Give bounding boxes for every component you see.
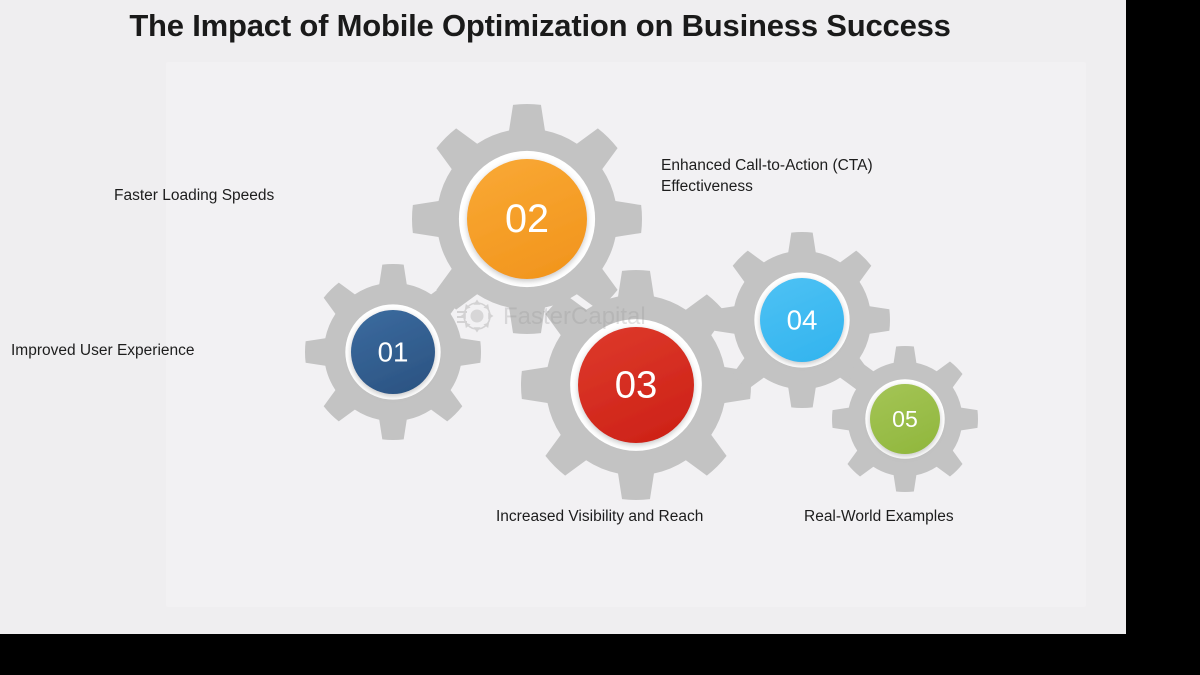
slide-canvas: The Impact of Mobile Optimization on Bus… <box>0 0 1126 634</box>
gear-03[interactable]: 03 <box>521 270 751 500</box>
gear-diagram: 0201030405 <box>0 0 1126 634</box>
gear-05[interactable]: 05 <box>832 346 978 492</box>
step-label-05: Real-World Examples <box>804 507 954 528</box>
slide-root: The Impact of Mobile Optimization on Bus… <box>0 0 1200 675</box>
step-label-02: Faster Loading Speeds <box>114 186 274 207</box>
gear-number-04: 04 <box>787 305 818 336</box>
gear-01[interactable]: 01 <box>305 264 481 440</box>
gear-number-03: 03 <box>615 364 658 407</box>
gear-diagram-svg: 0201030405 <box>0 0 1126 634</box>
step-label-03: Increased Visibility and Reach <box>496 507 703 528</box>
step-label-01: Improved User Experience <box>11 341 195 362</box>
step-label-04: Enhanced Call-to-Action (CTA) Effectiven… <box>661 156 951 198</box>
gear-number-05: 05 <box>892 406 918 432</box>
gear-number-01: 01 <box>378 337 409 368</box>
gear-number-02: 02 <box>505 197 549 241</box>
